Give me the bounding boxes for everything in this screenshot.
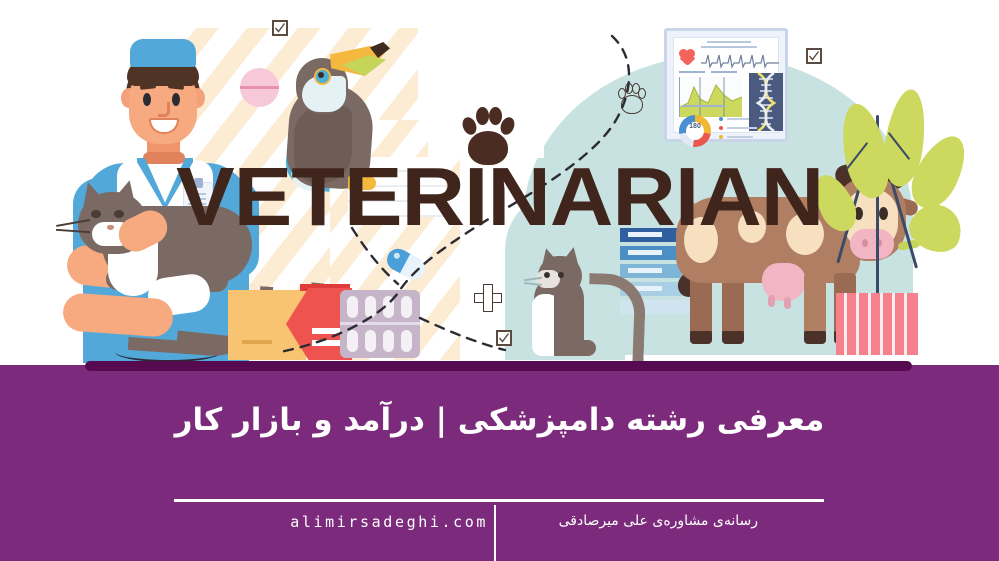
purple-banner xyxy=(0,365,999,561)
banner-page: 180 VETERINARIAN معرفی رشته دامپز xyxy=(0,0,999,561)
dark-purple-accent-bar xyxy=(85,361,912,371)
footer-vertical-separator xyxy=(494,505,496,561)
small-cross-icon xyxy=(474,284,502,312)
website-url[interactable]: alimirsadeghi.com xyxy=(260,513,488,531)
pill-blister-pack-icon xyxy=(340,290,420,358)
medical-dashboard-card: 180 xyxy=(664,28,788,142)
illustration-area: 180 VETERINARIAN xyxy=(0,0,999,365)
checkbox-icon[interactable] xyxy=(496,330,512,346)
banner-title: معرفی رشته دامپزشکی | درآمد و بازار کار xyxy=(0,400,999,440)
paw-print-outline-icon xyxy=(617,82,645,112)
sitting-cat-icon xyxy=(510,248,635,363)
veterinarian-headline: VETERINARIAN xyxy=(176,161,897,233)
area-chart-icon xyxy=(679,77,741,117)
ecg-line-icon xyxy=(701,51,779,69)
donut-gauge-icon xyxy=(679,115,711,147)
checkbox-icon[interactable] xyxy=(806,48,822,64)
checkbox-icon[interactable] xyxy=(272,20,288,36)
footer-divider xyxy=(174,499,824,502)
gauge-value: 180 xyxy=(679,123,711,130)
brand-tagline: رسانه‌ی مشاوره‌ی علی میرصادقی xyxy=(508,513,758,529)
dna-helix-icon xyxy=(749,73,783,131)
